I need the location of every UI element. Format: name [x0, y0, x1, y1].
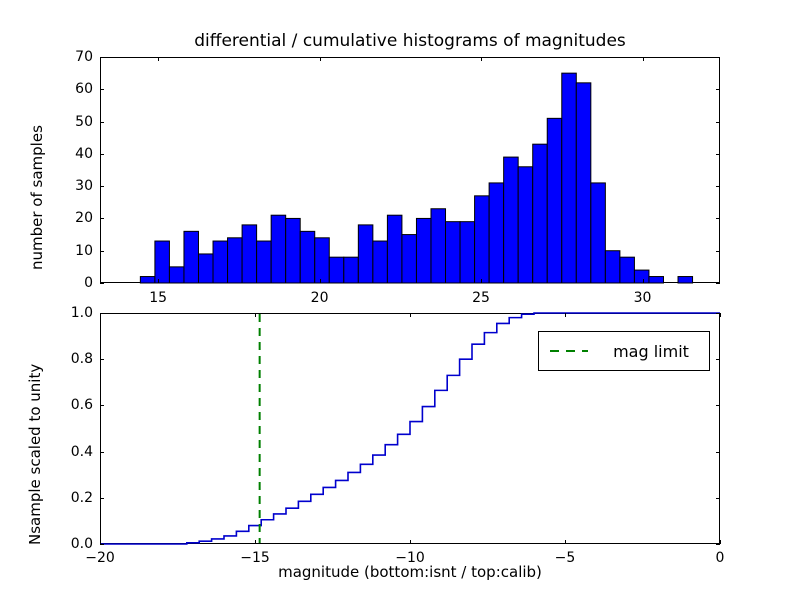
- y-tick-label: 0.6: [71, 397, 93, 413]
- y-tick-label: 0.4: [71, 444, 93, 460]
- x-tick-mark-top: [565, 313, 566, 317]
- legend: mag limit: [538, 331, 710, 371]
- y-tick-mark-right: [716, 452, 720, 453]
- mag-limit-dashed-line-icon: [549, 344, 589, 358]
- y-tick-mark: [100, 313, 104, 314]
- x-tick-mark: [720, 540, 721, 544]
- y-tick-mark-right: [716, 498, 720, 499]
- cumulative-axis-xlabel: magnitude (bottom:isnt / top:calib): [100, 563, 720, 581]
- x-tick-mark: [255, 540, 256, 544]
- cumulative-curve-layer: [0, 0, 800, 600]
- y-tick-label: 0.8: [71, 351, 93, 367]
- figure-canvas: differential / cumulative histograms of …: [0, 0, 800, 600]
- y-tick-label: 1.0: [71, 305, 93, 321]
- x-tick-mark: [410, 540, 411, 544]
- y-tick-mark-right: [716, 544, 720, 545]
- y-tick-label: 0.0: [71, 536, 93, 552]
- y-tick-mark: [100, 405, 104, 406]
- legend-label-mag-limit: mag limit: [603, 342, 699, 361]
- x-tick-mark-top: [410, 313, 411, 317]
- y-tick-mark: [100, 452, 104, 453]
- y-tick-label: 0.2: [71, 490, 93, 506]
- y-tick-mark-right: [716, 313, 720, 314]
- y-tick-mark: [100, 498, 104, 499]
- y-tick-mark: [100, 359, 104, 360]
- y-tick-mark-right: [716, 405, 720, 406]
- x-tick-mark-top: [255, 313, 256, 317]
- x-tick-mark: [565, 540, 566, 544]
- x-tick-mark-top: [720, 313, 721, 317]
- y-tick-mark: [100, 544, 104, 545]
- y-tick-mark-right: [716, 359, 720, 360]
